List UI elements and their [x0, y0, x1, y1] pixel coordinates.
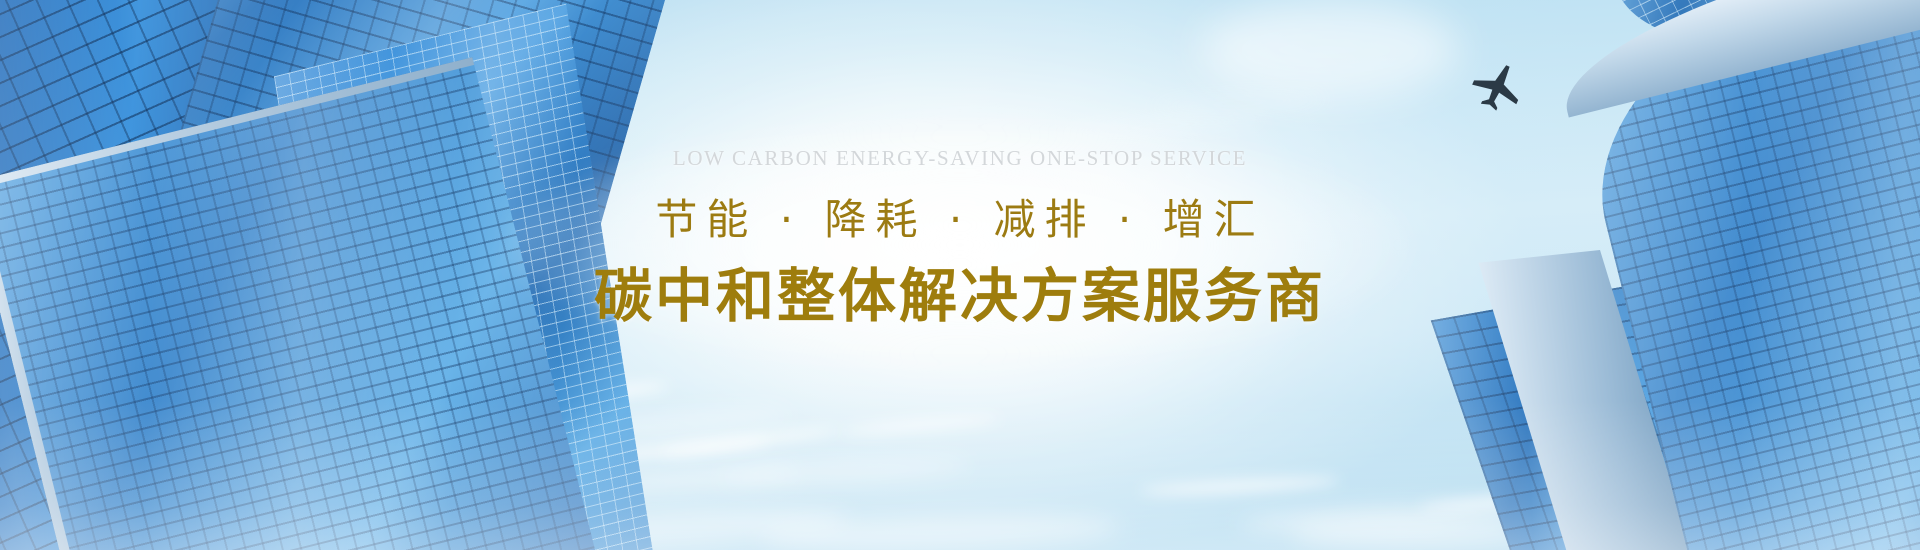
- banner-eyebrow-tagline: LOW CARBON ENERGY-SAVING ONE-STOP SERVIC…: [0, 148, 1920, 169]
- banner-copy-block: LOW CARBON ENERGY-SAVING ONE-STOP SERVIC…: [0, 148, 1920, 330]
- hero-banner: LOW CARBON ENERGY-SAVING ONE-STOP SERVIC…: [0, 0, 1920, 550]
- banner-headline: 碳中和整体解决方案服务商: [0, 263, 1920, 330]
- banner-subline: 节能 · 降耗 · 减排 · 增汇: [0, 197, 1920, 243]
- airplane-icon: [1468, 60, 1528, 112]
